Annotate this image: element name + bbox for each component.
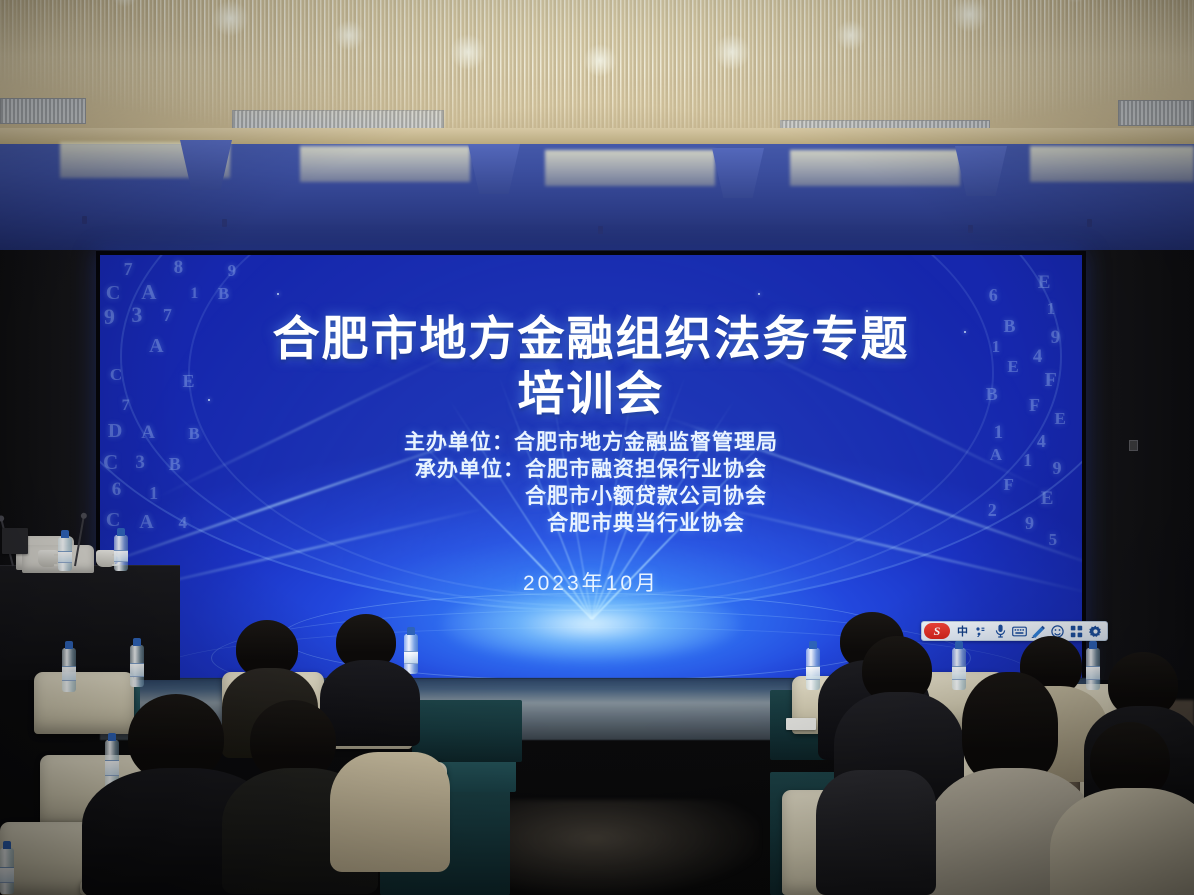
led-display-wall: 7 8 9 C A 1 B 9 3 7 A C E 7 D A B C 3 B … (100, 255, 1082, 678)
bottle-label (0, 867, 14, 883)
bottle-cap (809, 641, 817, 649)
bottle-cap (955, 641, 963, 649)
keyboard-icon (1012, 626, 1027, 637)
water-bottle (58, 537, 72, 571)
audience-table (412, 700, 522, 762)
speaker-head-table (0, 565, 180, 680)
slide-organizers: 主办单位：合肥市地方金融监督管理局 承办单位：合肥市融资担保行业协会 合肥市小额… (100, 429, 1082, 537)
slide-title-line1: 合肥市地方金融组织法务专题 (273, 312, 910, 365)
toolbox-grid-icon (1070, 625, 1083, 638)
host-line-2: 合肥市小额贷款公司协会 (100, 483, 1082, 510)
bottle-cap (1089, 641, 1097, 649)
water-bottle (62, 648, 76, 692)
bottle-label (114, 550, 128, 562)
ceiling-fixture-dot (968, 225, 973, 233)
slide-title: 合肥市地方金融组织法务专题 培训会 (100, 311, 1082, 421)
punctuation-toggle-button[interactable] (973, 623, 990, 639)
bottle-cap (108, 733, 116, 741)
settings-button[interactable] (1087, 623, 1104, 639)
toolbox-button[interactable] (1068, 623, 1085, 639)
ceiling-fixture-dot (1087, 219, 1092, 227)
bottle-cap (117, 528, 125, 536)
water-bottle (114, 535, 128, 571)
coffer-panel (545, 150, 715, 186)
soft-keyboard-button[interactable] (1011, 623, 1028, 639)
coffer-panel (1030, 146, 1194, 182)
voice-input-button[interactable] (992, 623, 1009, 639)
slide-title-line2: 培训会 (518, 367, 665, 420)
document-sheet (786, 718, 816, 730)
host-line-3: 合肥市典当行业协会 (100, 510, 1082, 537)
bottle-label (952, 666, 966, 680)
bottle-label (404, 651, 418, 665)
audience-chair (34, 672, 134, 734)
language-mode-button[interactable]: 中 (954, 623, 971, 639)
ceiling-fixture-dot (598, 226, 603, 234)
ceiling-fixture-dot (222, 219, 227, 227)
bottle-label (58, 551, 72, 563)
slide-date: 2023年10月 (100, 567, 1082, 597)
person-body (330, 752, 450, 872)
host-line-1: 承办单位：合肥市融资担保行业协会 (100, 456, 1082, 483)
gear-icon (1089, 625, 1102, 638)
bottle-label (62, 666, 76, 681)
ceiling-fixture-dot (82, 216, 87, 224)
bottle-cap (3, 841, 11, 849)
sogou-ime-toolbar[interactable]: S 中 (921, 621, 1108, 641)
punctuation-icon (975, 626, 988, 637)
conference-photo: 7 8 9 C A 1 B 9 3 7 A C E 7 D A B C 3 B … (0, 0, 1194, 895)
bottle-cap (133, 638, 141, 646)
bottle-label (130, 663, 144, 677)
sogou-logo-icon[interactable]: S (924, 623, 950, 639)
pen-icon (1031, 625, 1046, 638)
bottle-cap (65, 641, 73, 649)
person-body (816, 770, 936, 895)
bottle-cap (61, 530, 69, 538)
water-bottle (1086, 648, 1100, 690)
microphone-icon (995, 624, 1006, 638)
slide-content: 合肥市地方金融组织法务专题 培训会 主办单位：合肥市地方金融监督管理局 承办单位… (100, 255, 1082, 678)
coffer-panel (790, 150, 960, 186)
wall-socket (1129, 440, 1138, 451)
bottle-label (105, 760, 119, 776)
water-bottle (806, 648, 820, 690)
teacup (38, 550, 58, 567)
wall-right (1084, 250, 1194, 680)
water-bottle (952, 648, 966, 690)
organizer-line: 主办单位：合肥市地方金融监督管理局 (100, 429, 1082, 456)
water-bottle (404, 634, 418, 674)
bottle-label (806, 666, 820, 680)
water-bottle (0, 848, 14, 894)
bottle-label (1086, 666, 1100, 680)
bottle-cap (407, 627, 415, 635)
water-bottle (130, 645, 144, 687)
coffer-panel (300, 146, 470, 182)
teacup (96, 550, 116, 567)
laptop-screen (2, 528, 28, 554)
